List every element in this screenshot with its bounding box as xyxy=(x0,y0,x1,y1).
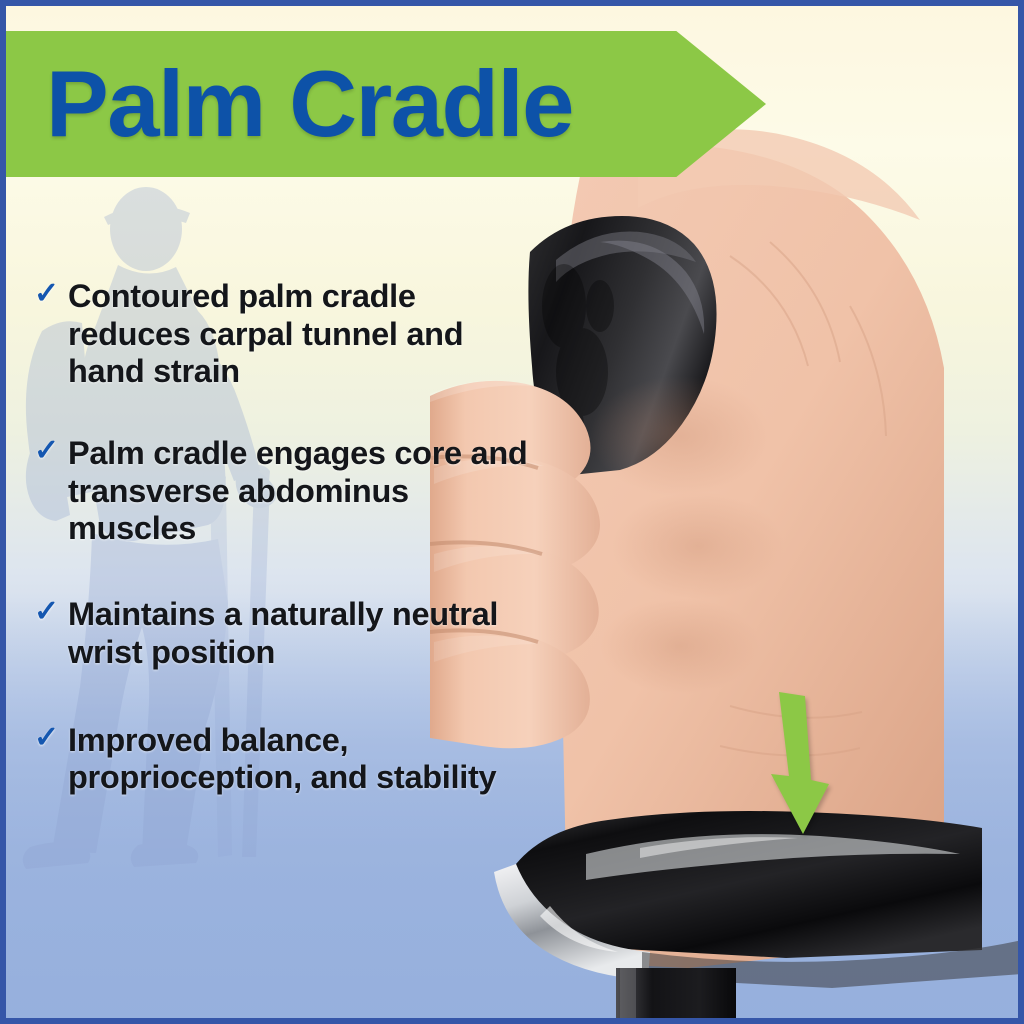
list-item-label: Maintains a naturally neutral wrist posi… xyxy=(68,596,534,671)
page-title: Palm Cradle xyxy=(46,57,573,151)
check-icon: ✓ xyxy=(34,596,68,628)
list-item: ✓ Improved balance, proprioception, and … xyxy=(34,722,534,797)
title-banner: Palm Cradle xyxy=(6,31,766,177)
check-icon: ✓ xyxy=(34,722,68,754)
check-icon: ✓ xyxy=(34,435,68,467)
list-item-label: Contoured palm cradle reduces carpal tun… xyxy=(68,278,534,391)
list-item-label: Improved balance, proprioception, and st… xyxy=(68,722,534,797)
infographic-card: Palm Cradle ✓ Contoured palm cradle redu… xyxy=(0,0,1024,1024)
list-item-label: Palm cradle engages core and transverse … xyxy=(68,435,534,548)
list-item: ✓ Maintains a naturally neutral wrist po… xyxy=(34,596,534,671)
arrow-down-icon xyxy=(763,688,835,838)
list-item: ✓ Contoured palm cradle reduces carpal t… xyxy=(34,278,534,391)
feature-list: ✓ Contoured palm cradle reduces carpal t… xyxy=(34,278,534,797)
check-icon: ✓ xyxy=(34,278,68,310)
list-item: ✓ Palm cradle engages core and transvers… xyxy=(34,435,534,548)
